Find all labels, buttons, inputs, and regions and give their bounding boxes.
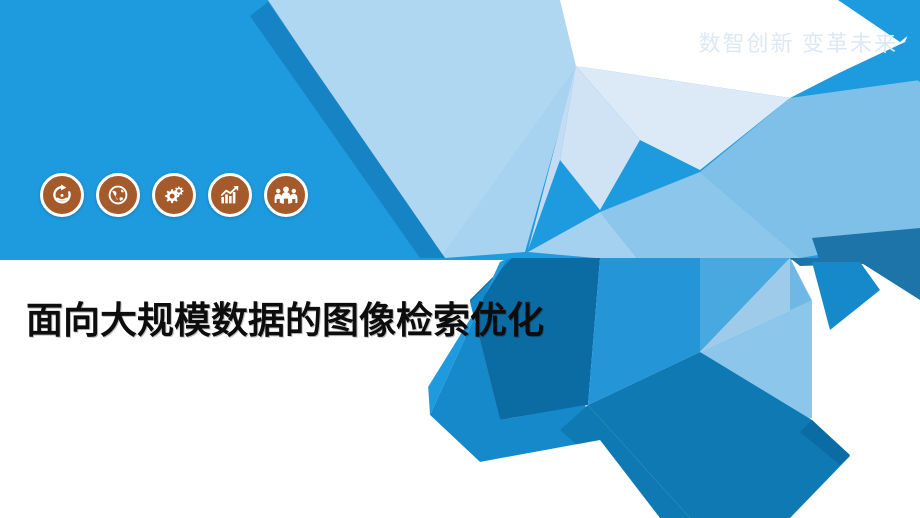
- slide-tagline: 数智创新 变革未来: [698, 26, 898, 58]
- page-title: 面向大规模数据的图像检索优化: [26, 295, 546, 348]
- bar-chart-icon[interactable]: [208, 173, 252, 217]
- icon-badge-row: [40, 173, 308, 217]
- facet-right-corner-blue: [812, 262, 880, 330]
- refresh-arrow-icon[interactable]: [40, 173, 84, 217]
- presentation-slide: 数智创新 变革未来: [0, 0, 920, 518]
- background-polygon-art: [0, 0, 920, 518]
- people-group-icon[interactable]: [264, 173, 308, 217]
- gears-icon[interactable]: [152, 173, 196, 217]
- globe-icon[interactable]: [96, 173, 140, 217]
